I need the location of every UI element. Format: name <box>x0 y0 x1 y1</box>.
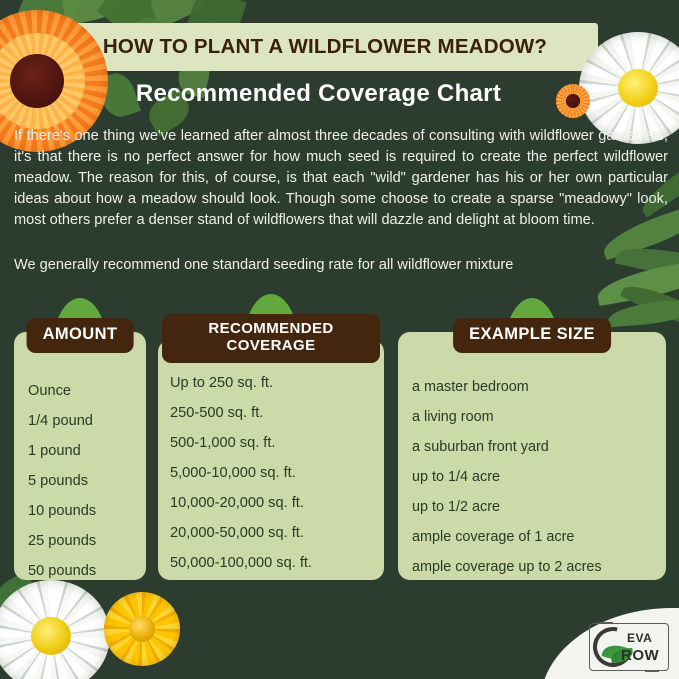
column-cells-recommended-coverage: Up to 250 sq. ft. 250-500 sq. ft. 500-1,… <box>158 368 384 578</box>
table-cell: 50,000-100,000 sq. ft. <box>170 548 372 578</box>
yellow-coreopsis-flower-icon <box>104 592 180 666</box>
column-header-amount: AMOUNT <box>27 318 134 353</box>
column-header-recommended-coverage: RECOMMENDED COVERAGE <box>162 314 380 363</box>
eva-grow-logo: EVA ROW <box>589 623 669 671</box>
column-header-example-size: EXAMPLE SIZE <box>453 318 611 353</box>
table-cell: 250-500 sq. ft. <box>170 398 372 428</box>
table-cell: a master bedroom <box>412 372 652 402</box>
table-cell: 1/4 pound <box>28 406 132 436</box>
title-banner: HOW TO PLANT A WILDFLOWER MEADOW? <box>52 23 598 71</box>
white-daisy-flower-icon <box>0 580 110 679</box>
bamboo-leaf-icon <box>607 299 679 327</box>
table-cell: a living room <box>412 402 652 432</box>
recommendation-note: We generally recommend one standard seed… <box>14 255 668 276</box>
table-cell: up to 1/2 acre <box>412 492 652 522</box>
table-cell: ample coverage up to 2 acres <box>412 552 652 582</box>
table-cell: ample coverage of 1 acre <box>412 522 652 552</box>
logo-word-eva: EVA <box>627 631 652 645</box>
column-cells-example-size: a master bedroom a living room a suburba… <box>398 372 666 582</box>
table-cell: 5,000-10,000 sq. ft. <box>170 458 372 488</box>
table-cell: 25 pounds <box>28 526 132 556</box>
table-cell: 1 pound <box>28 436 132 466</box>
table-cell: 500-1,000 sq. ft. <box>170 428 372 458</box>
table-cell: a suburban front yard <box>412 432 652 462</box>
logo-word-grow: ROW <box>621 647 659 664</box>
infographic-canvas: HOW TO PLANT A WILDFLOWER MEADOW? Recomm… <box>0 0 679 679</box>
intro-paragraph: If there's one thing we've learned after… <box>14 126 668 231</box>
table-cell: 5 pounds <box>28 466 132 496</box>
page-title: HOW TO PLANT A WILDFLOWER MEADOW? <box>52 23 598 71</box>
table-cell: Up to 250 sq. ft. <box>170 368 372 398</box>
table-cell: 10,000-20,000 sq. ft. <box>170 488 372 518</box>
table-cell: Ounce <box>28 376 132 406</box>
table-cell: 10 pounds <box>28 496 132 526</box>
table-cell: up to 1/4 acre <box>412 462 652 492</box>
small-orange-flower-icon <box>556 84 590 118</box>
column-cells-amount: Ounce 1/4 pound 1 pound 5 pounds 10 poun… <box>14 376 146 586</box>
table-cell: 20,000-50,000 sq. ft. <box>170 518 372 548</box>
